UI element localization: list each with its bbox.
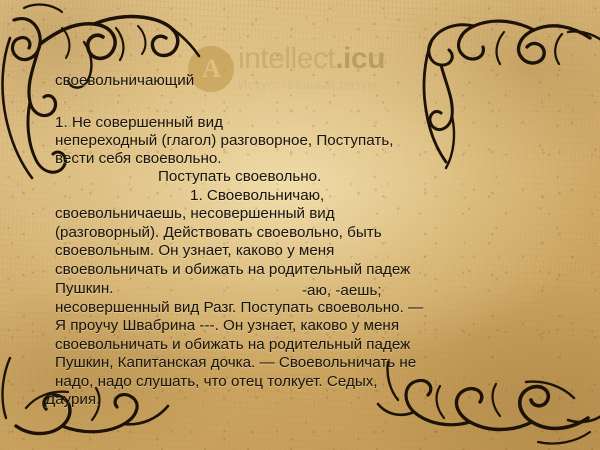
entry-line: своевольным. Он узнает, каково у меня [55, 243, 334, 258]
entry-line: несовершенный вид Разг. Поступать своево… [55, 300, 423, 315]
entry-line: Даурия. [45, 392, 100, 407]
entry-line: Пушкин, Капитанская дочка. — Своевольнич… [55, 355, 416, 370]
ornament-bottom-right-icon [369, 302, 600, 450]
entry-line: непереходный (глагол) разговорное, Посту… [55, 133, 393, 148]
intellect-logo-icon: A [188, 46, 234, 92]
watermark-title-tld: .icu [335, 42, 385, 75]
ornament-top-right-icon [414, 0, 600, 173]
entry-line: (разговорный). Действовать своевольно, б… [55, 225, 382, 240]
entry-line: Я проучу Швабрина ---. Он узнает, каково… [55, 318, 399, 333]
watermark-subtitle: Искусственный разум [238, 77, 385, 92]
entry-line: 1. Не совершенный вид [55, 115, 223, 130]
watermark-title-name: intellect [238, 42, 335, 75]
entry-line: Поступать своевольно. [158, 169, 321, 184]
entry-line: своевольничать и обижать на родительный … [55, 262, 410, 277]
watermark-title: intellect.icu [238, 44, 385, 74]
presentation-slide: A intellect.icu Искусственный разум свое… [0, 0, 600, 450]
entry-line: своевольничаешь, несовершенный вид [55, 206, 335, 221]
dictionary-entry-text: своевольничающий 1. Не совершенный видне… [0, 0, 600, 450]
entry-line: -аю, -аешь; [302, 283, 382, 298]
ornament-bottom-left-icon [0, 332, 171, 450]
headword: своевольничающий [55, 72, 194, 89]
entry-line: 1. Своевольничаю, [190, 188, 324, 203]
entry-line: надо, надо слушать, что отец толкует. Се… [55, 374, 378, 389]
entry-line: Пушкин. [55, 281, 113, 296]
watermark: A intellect.icu Искусственный разум [188, 44, 385, 92]
entry-line: вести себя своевольно. [55, 151, 222, 166]
logo-glyph: A [188, 46, 234, 92]
watermark-text: intellect.icu Искусственный разум [238, 44, 385, 92]
entry-line: своевольничать и обижать на родительный … [55, 337, 410, 352]
ornament-top-left-icon [0, 0, 206, 183]
